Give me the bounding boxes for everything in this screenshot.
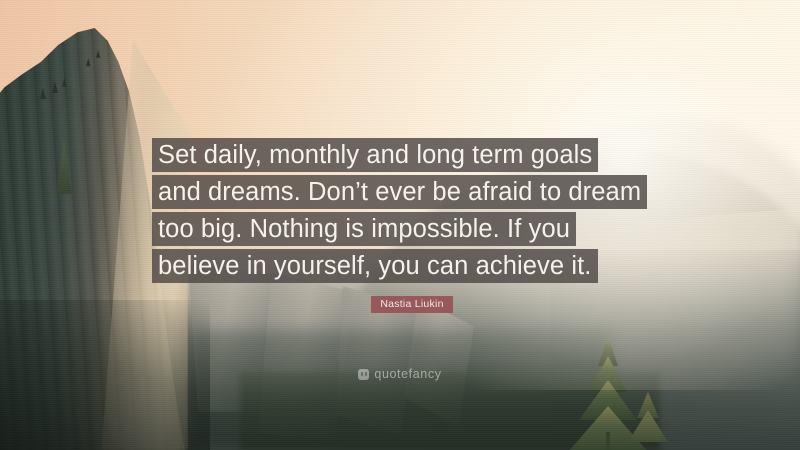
quote-line: and dreams. Don’t ever be afraid to drea… — [152, 175, 647, 209]
quotefancy-logo-icon — [358, 369, 369, 380]
watermark: quotefancy — [0, 367, 800, 381]
quote-line: too big. Nothing is impossible. If you — [152, 212, 576, 246]
secondary-conifer — [622, 392, 674, 450]
quote-poster: Set daily, monthly and long term goals a… — [0, 0, 800, 450]
author-attribution: Nastia Liukin — [152, 294, 672, 313]
watermark-brand: quotefancy — [374, 367, 441, 381]
secondary-conifer-tier-2 — [628, 410, 668, 442]
conifer-trunk — [606, 432, 610, 450]
quote-line: Set daily, monthly and long term goals — [152, 138, 598, 172]
author-name-badge: Nastia Liukin — [371, 296, 452, 313]
quote-block: Set daily, monthly and long term goals a… — [152, 138, 672, 286]
quote-line: believe in yourself, you can achieve it. — [152, 249, 598, 283]
